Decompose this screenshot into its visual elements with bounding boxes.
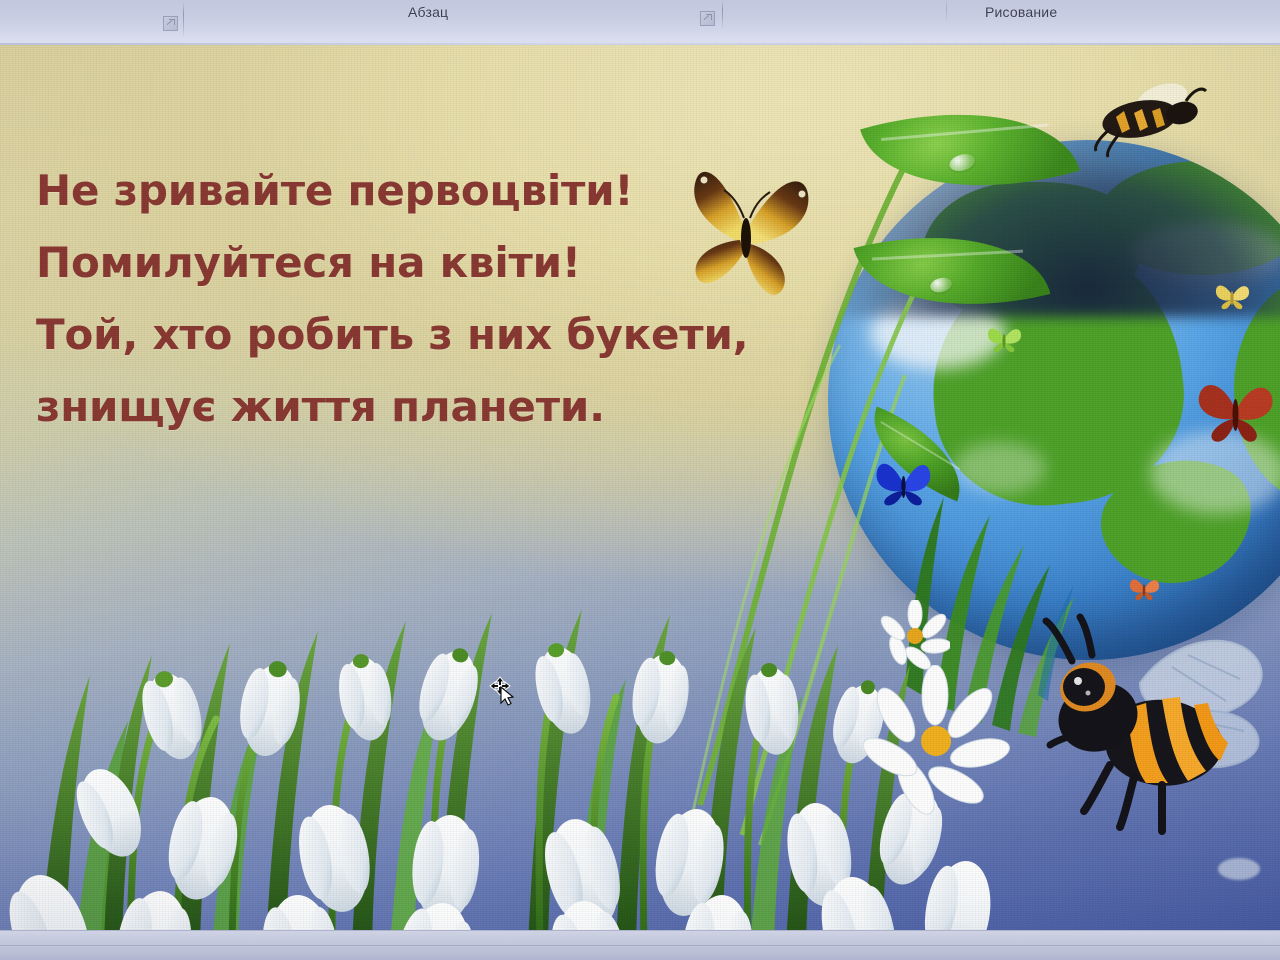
poem-line-2: Помилуйтеся на квіти! bbox=[36, 227, 776, 299]
poem-line-4: знищує життя планети. bbox=[36, 371, 776, 443]
poem-line-1: Не зривайте первоцвіти! bbox=[36, 155, 776, 227]
daisy-flower bbox=[880, 600, 950, 670]
butterfly-red[interactable] bbox=[1192, 375, 1278, 445]
dialog-launcher-icon[interactable] bbox=[163, 16, 178, 31]
leaf-vein bbox=[881, 123, 1049, 141]
slide-canvas[interactable]: Не зривайте первоцвіти! Помилуйтеся на к… bbox=[0, 45, 1280, 930]
ribbon-strip: Абзац Рисование bbox=[0, 0, 1280, 45]
ribbon-group-label-drawing: Рисование bbox=[985, 4, 1057, 20]
background-highlight-ellipse bbox=[1218, 858, 1260, 880]
ribbon-group-paragraph: Абзац bbox=[408, 4, 448, 20]
butterfly-blue[interactable] bbox=[872, 457, 934, 507]
dialog-launcher-icon[interactable] bbox=[700, 11, 715, 26]
leaf-vein bbox=[872, 249, 1023, 260]
move-cursor bbox=[489, 676, 523, 710]
butterfly-yellow-small[interactable] bbox=[1213, 280, 1251, 310]
daisy-flower bbox=[860, 665, 1010, 815]
bee-small-top[interactable] bbox=[1090, 73, 1210, 163]
ribbon-separator bbox=[183, 2, 184, 36]
water-droplet bbox=[928, 275, 953, 294]
ribbon-group-label-paragraph: Абзац bbox=[408, 4, 448, 20]
presentation-editor-window: Абзац Рисование bbox=[0, 0, 1280, 960]
bee-large-bottom[interactable] bbox=[1022, 605, 1280, 840]
status-bar[interactable] bbox=[0, 930, 1280, 960]
butterfly-green-small[interactable] bbox=[985, 323, 1023, 353]
ribbon-separator bbox=[946, 0, 947, 22]
butterfly-orange-small[interactable] bbox=[1128, 575, 1160, 601]
water-droplet bbox=[947, 151, 976, 174]
ribbon-separator bbox=[722, 0, 723, 28]
ribbon-group-drawing: Рисование bbox=[985, 4, 1057, 20]
poem-line-3: Той, хто робить з них букети, bbox=[36, 299, 776, 371]
poem-text-block[interactable]: Не зривайте первоцвіти! Помилуйтеся на к… bbox=[36, 155, 776, 443]
